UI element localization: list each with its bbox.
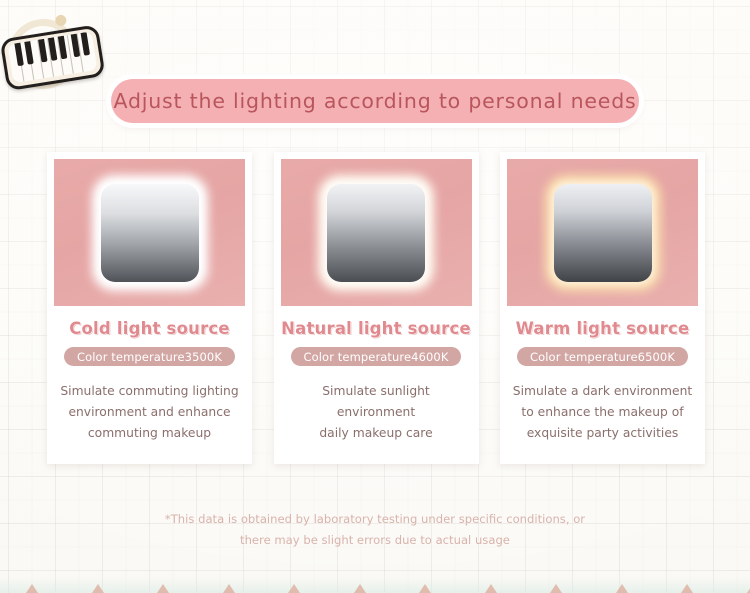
footnote-line: there may be slight errors due to actual…: [0, 530, 750, 551]
card-description-line: commuting makeup: [57, 423, 242, 444]
card-description-line: Simulate commuting lighting: [57, 381, 242, 402]
card-description-line: Simulate sunlight environment: [284, 381, 469, 423]
color-temperature-badge: Color temperature4600K: [291, 347, 462, 366]
card-description: Simulate sunlight environment daily make…: [284, 381, 469, 444]
card-image-natural: [281, 159, 472, 306]
card-description: Simulate commuting lighting environment …: [57, 381, 242, 444]
color-temperature-badge: Color temperature6500K: [517, 347, 688, 366]
bottom-decoration-strip: [0, 577, 750, 593]
triangle-icon: [419, 584, 431, 593]
card-description: Simulate a dark environment to enhance t…: [510, 381, 695, 444]
triangle-icon: [681, 584, 693, 593]
footnote-line: *This data is obtained by laboratory tes…: [0, 509, 750, 530]
disclaimer-footnote: *This data is obtained by laboratory tes…: [0, 509, 750, 551]
card-description-line: to enhance the makeup of: [510, 402, 695, 423]
triangle-icon: [288, 584, 300, 593]
triangle-icon: [485, 584, 497, 593]
page-root: Adjust the lighting according to persona…: [0, 0, 750, 593]
light-source-card-natural: Natural light source Color temperature46…: [274, 152, 479, 464]
light-panel-icon: [92, 175, 208, 291]
card-title: Cold light source: [69, 319, 230, 338]
triangle-icon: [26, 584, 38, 593]
melodica-dot: [55, 14, 68, 27]
triangle-icon: [223, 584, 235, 593]
card-description-line: environment and enhance: [57, 402, 242, 423]
triangle-icon: [157, 584, 169, 593]
card-description-line: exquisite party activities: [510, 423, 695, 444]
panel-screen: [327, 184, 425, 282]
page-title: Adjust the lighting according to persona…: [113, 89, 636, 113]
card-image-cold: [54, 159, 245, 306]
card-image-warm: [507, 159, 698, 306]
card-body-natural: Natural light source Color temperature46…: [274, 306, 479, 464]
panel-screen: [554, 184, 652, 282]
triangle-icon: [354, 584, 366, 593]
melodica-keys: [7, 31, 97, 83]
card-title: Natural light source: [281, 319, 471, 338]
melodica-keyboard-icon: [0, 9, 103, 93]
card-body-warm: Warm light source Color temperature6500K…: [500, 306, 705, 464]
card-description-line: Simulate a dark environment: [510, 381, 695, 402]
light-source-card-list: Cold light source Color temperature3500K…: [47, 152, 705, 464]
light-panel-icon: [318, 175, 434, 291]
triangle-icon: [92, 584, 104, 593]
light-source-card-warm: Warm light source Color temperature6500K…: [500, 152, 705, 464]
light-panel-icon: [545, 175, 661, 291]
card-title: Warm light source: [516, 319, 690, 338]
card-description-line: daily makeup care: [284, 423, 469, 444]
section-title-banner: Adjust the lighting according to persona…: [111, 79, 639, 123]
triangle-icon: [616, 584, 628, 593]
card-body-cold: Cold light source Color temperature3500K…: [47, 306, 252, 464]
light-source-card-cold: Cold light source Color temperature3500K…: [47, 152, 252, 464]
panel-screen: [101, 184, 199, 282]
color-temperature-badge: Color temperature3500K: [64, 347, 235, 366]
triangle-icon: [747, 584, 750, 593]
triangle-icon: [550, 584, 562, 593]
